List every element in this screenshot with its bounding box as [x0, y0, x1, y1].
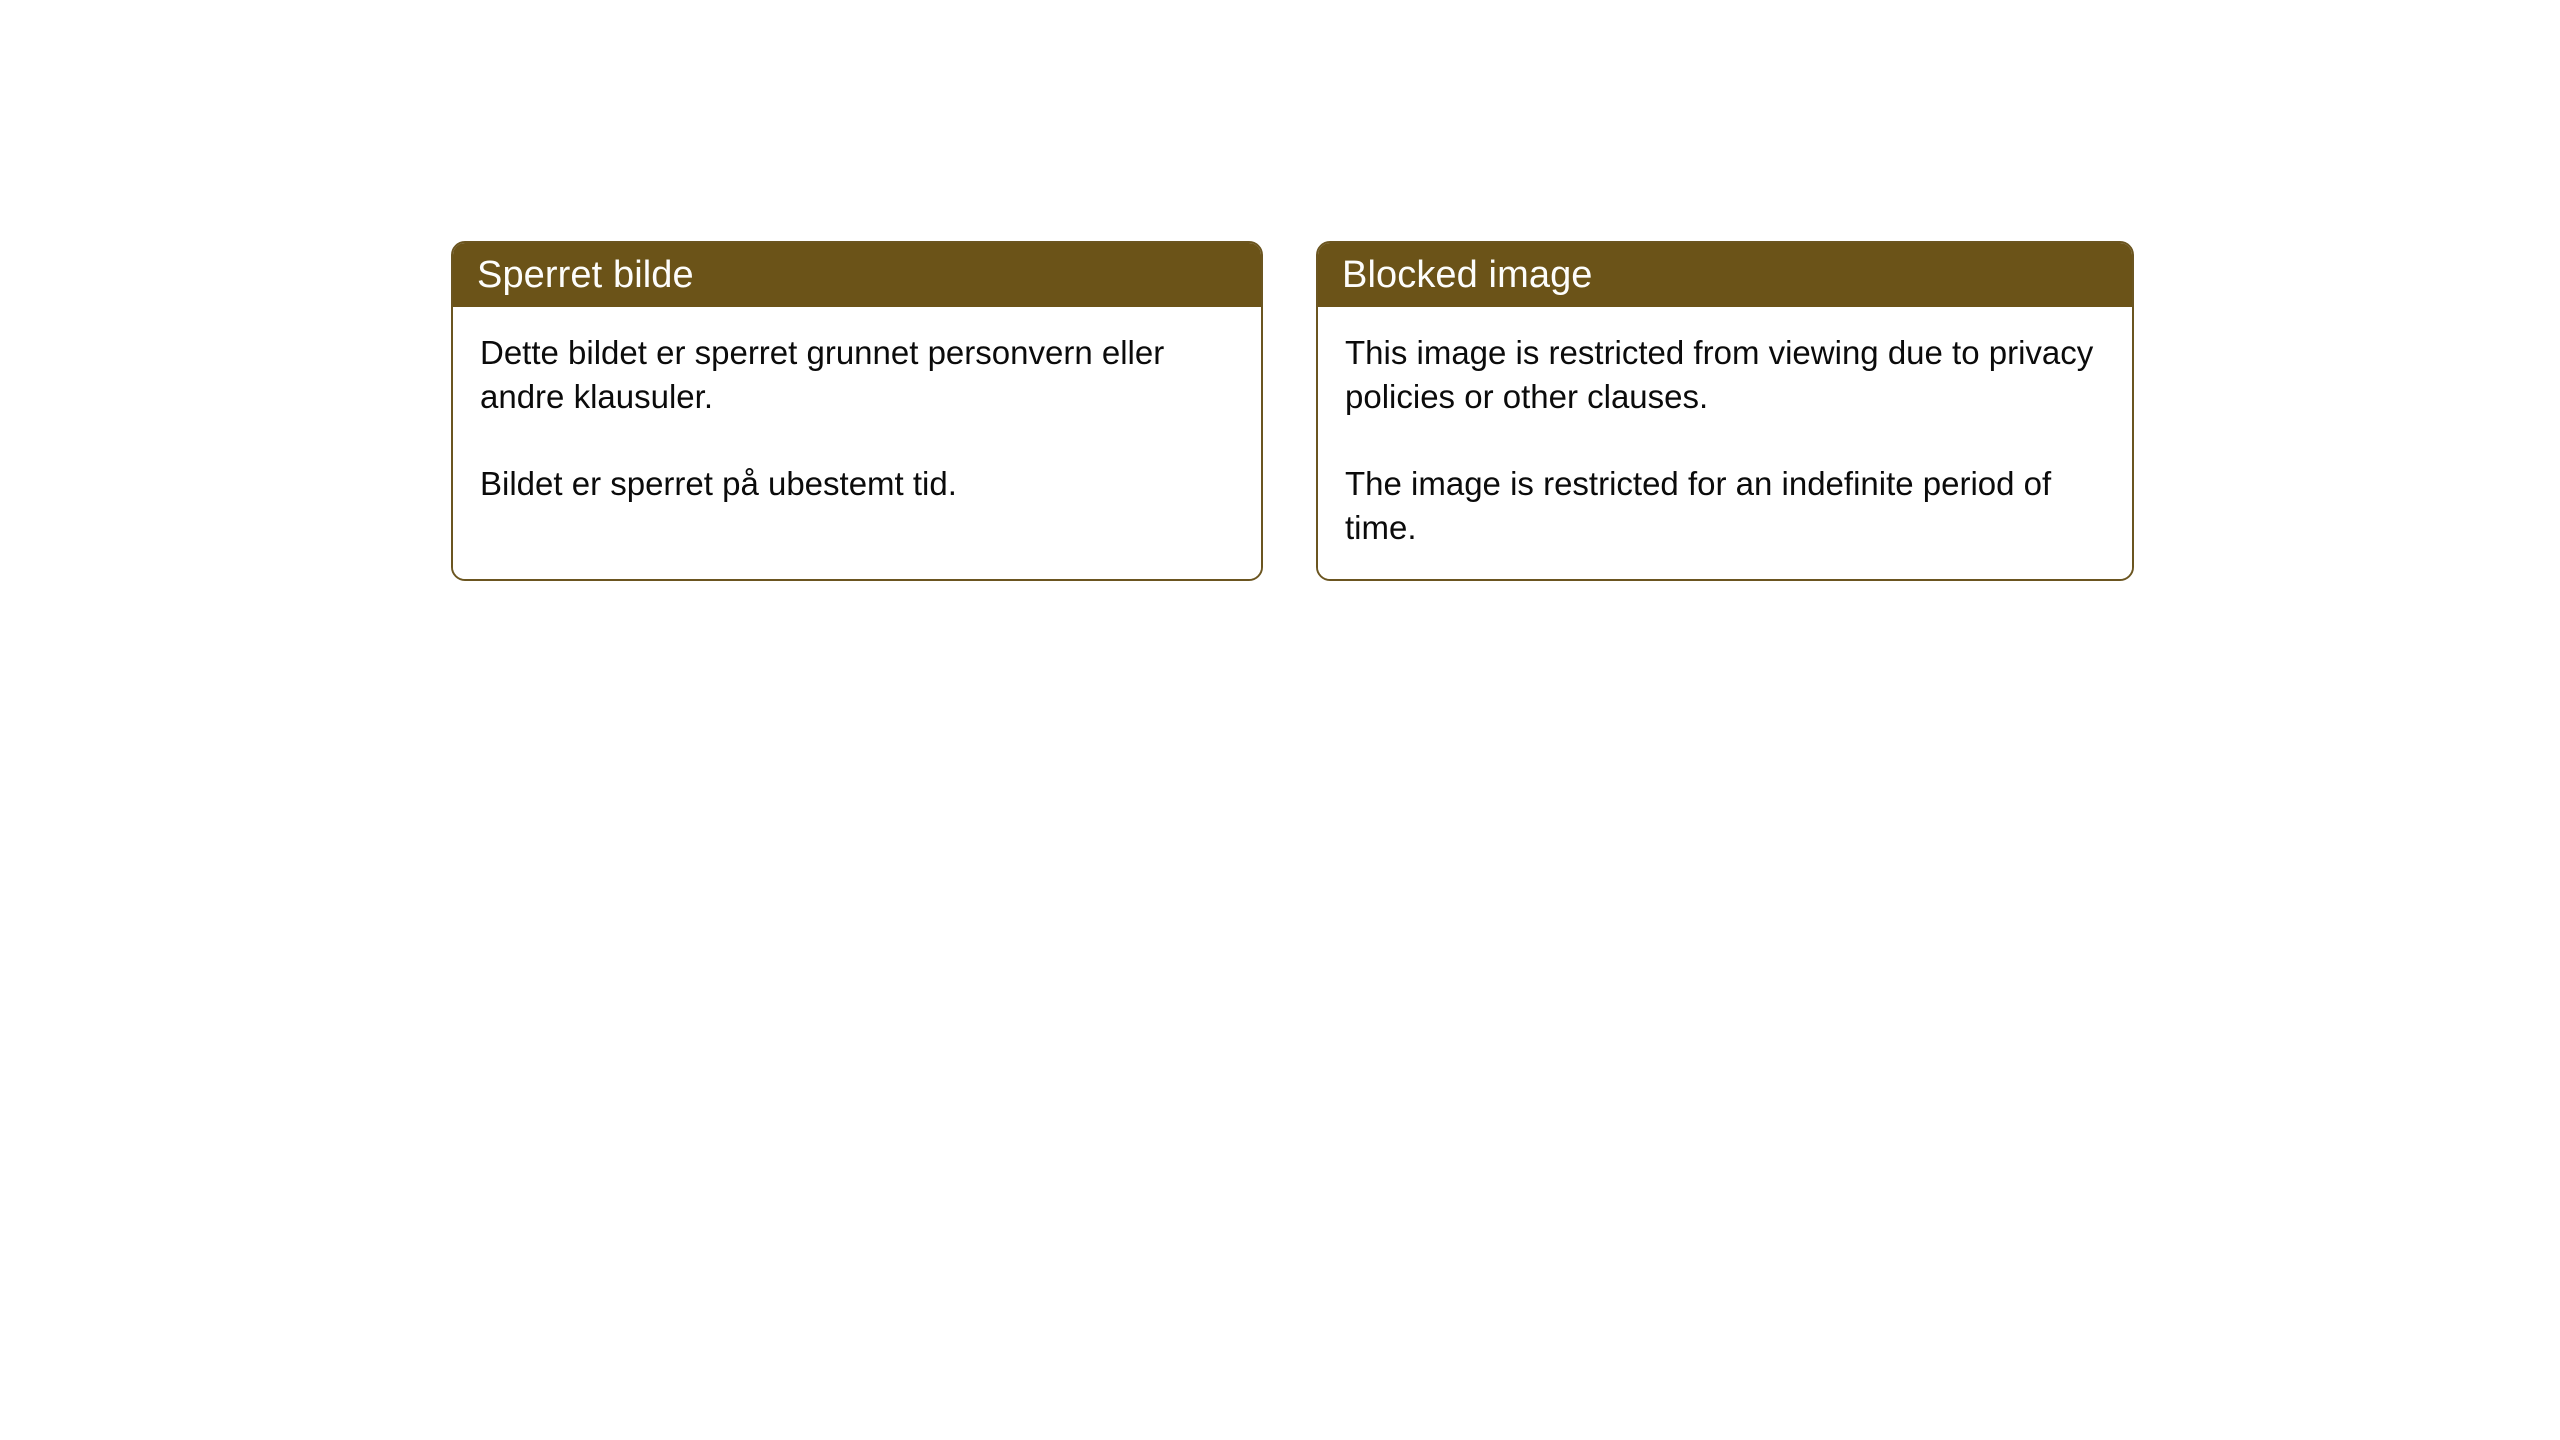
card-paragraph-norwegian-1: Dette bildet er sperret grunnet personve…: [480, 331, 1235, 419]
card-header-english: Blocked image: [1318, 243, 2132, 307]
card-paragraph-norwegian-2: Bildet er sperret på ubestemt tid.: [480, 462, 1235, 506]
blocked-image-notice-card-norwegian: Sperret bilde Dette bildet er sperret gr…: [451, 241, 1263, 581]
card-paragraph-english-2: The image is restricted for an indefinit…: [1345, 462, 2106, 550]
card-paragraph-english-1: This image is restricted from viewing du…: [1345, 331, 2106, 419]
notice-cards-container: Sperret bilde Dette bildet er sperret gr…: [451, 241, 2134, 581]
card-title-norwegian: Sperret bilde: [477, 256, 694, 294]
page-canvas: Sperret bilde Dette bildet er sperret gr…: [0, 0, 2560, 1440]
card-title-english: Blocked image: [1342, 256, 1593, 294]
card-header-norwegian: Sperret bilde: [453, 243, 1261, 307]
card-body-norwegian: Dette bildet er sperret grunnet personve…: [453, 307, 1261, 579]
blocked-image-notice-card-english: Blocked image This image is restricted f…: [1316, 241, 2134, 581]
card-body-english: This image is restricted from viewing du…: [1318, 307, 2132, 579]
